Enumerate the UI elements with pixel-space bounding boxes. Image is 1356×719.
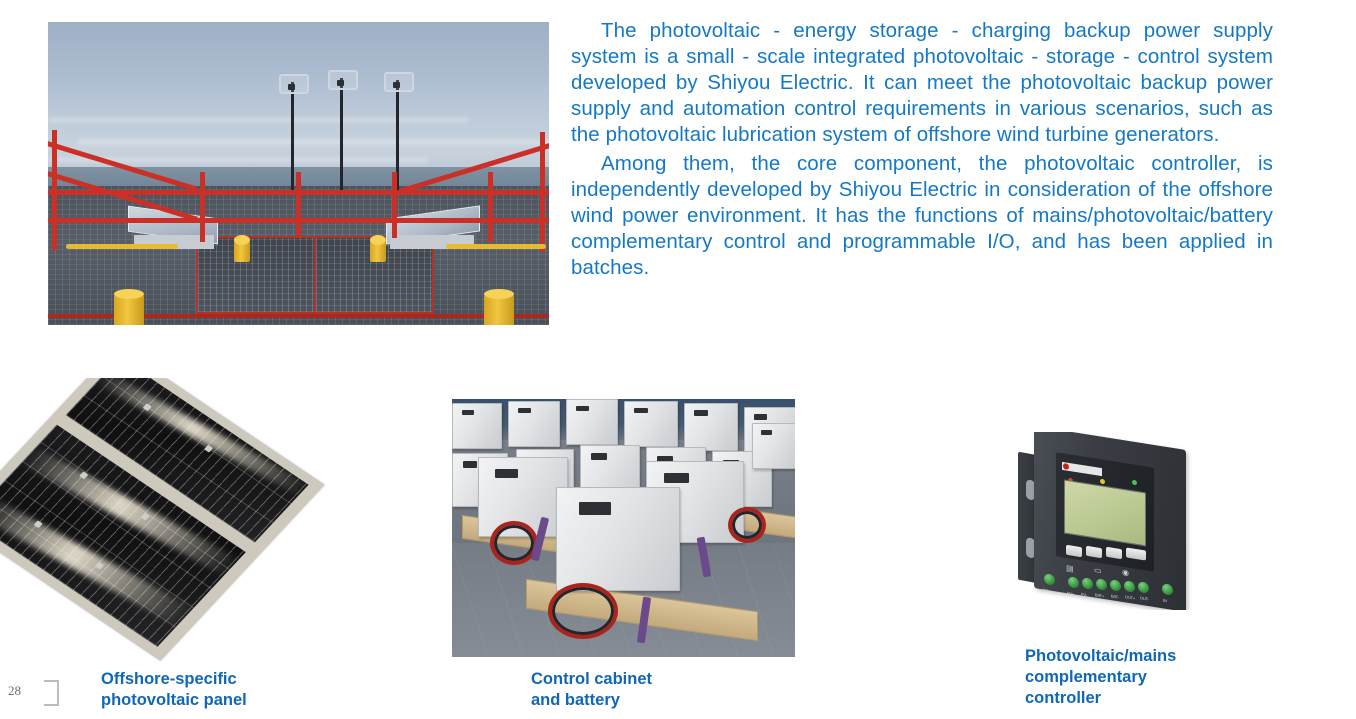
railing-post <box>52 130 57 250</box>
sensor-mast <box>291 82 294 192</box>
body-text-block: The photovoltaic - energy storage - char… <box>571 18 1273 284</box>
cable-coil <box>548 583 618 639</box>
deck-bollard <box>370 240 386 262</box>
sensor-device <box>337 80 344 86</box>
caption-photovoltaic-panel: Offshore-specific photovoltaic panel <box>101 669 247 711</box>
paragraph-system-overview: The photovoltaic - energy storage - char… <box>571 18 1273 148</box>
control-cabinet <box>508 401 560 447</box>
sensor-device <box>393 82 400 88</box>
sensor-device <box>288 84 295 90</box>
terminal-label-pv-minus: PV- <box>1081 592 1087 598</box>
pv-panel-frame <box>0 378 325 661</box>
page-bracket-marker <box>44 680 59 706</box>
caption-control-cabinet: Control cabinet and battery <box>531 669 652 711</box>
caption-controller: Photovoltaic/mains complementary control… <box>1025 646 1176 709</box>
page-number: 28 <box>8 683 21 699</box>
grid-icon: ▤ <box>1066 563 1074 573</box>
yellow-kick-rail <box>66 244 178 249</box>
deck-bollard <box>484 294 514 325</box>
sky-region <box>48 22 549 180</box>
railing-post <box>488 172 493 242</box>
paragraph-controller-detail: Among them, the core component, the phot… <box>571 151 1273 281</box>
cable-coil <box>728 507 766 543</box>
ac-charge-led <box>1100 479 1105 485</box>
railing-post <box>392 172 397 238</box>
railing-post <box>296 172 301 238</box>
cloud-streak <box>48 118 468 122</box>
terminal-label-in: IN <box>1163 598 1167 604</box>
deck-grating-hatch <box>196 236 316 314</box>
lamp-icon: ◉ <box>1122 567 1129 577</box>
offshore-photovoltaic-panel-photo <box>0 378 345 663</box>
load-led <box>1132 480 1137 486</box>
sensor-mast <box>340 78 343 192</box>
terminal-label-pv-plus: PV+ <box>1067 590 1074 596</box>
control-cabinet <box>566 399 618 445</box>
deck-bollard <box>234 240 250 262</box>
railing-post <box>540 132 545 252</box>
control-cabinet <box>452 403 502 449</box>
control-cabinet-foreground <box>556 487 680 591</box>
control-cabinet <box>624 401 678 447</box>
photovoltaic-mains-complementary-controller-photo: ▤ ▭ ◉ DC+ PV+ PV- BAT+ BAT- OUT+ OUT- IN <box>1012 432 1208 610</box>
terminal-label-dc: DC+ <box>1043 587 1051 593</box>
yellow-kick-rail <box>446 244 546 249</box>
control-cabinet <box>752 423 795 469</box>
control-cabinet <box>684 403 738 451</box>
battery-icon: ▭ <box>1094 565 1102 575</box>
railing-post <box>200 172 205 242</box>
offshore-platform-deck-photo <box>48 22 549 325</box>
control-cabinet-and-battery-photo <box>452 399 795 657</box>
deck-bollard <box>114 294 144 325</box>
terminal-label-bat-minus: BAT- <box>1111 593 1119 599</box>
cloud-streak <box>78 140 549 144</box>
